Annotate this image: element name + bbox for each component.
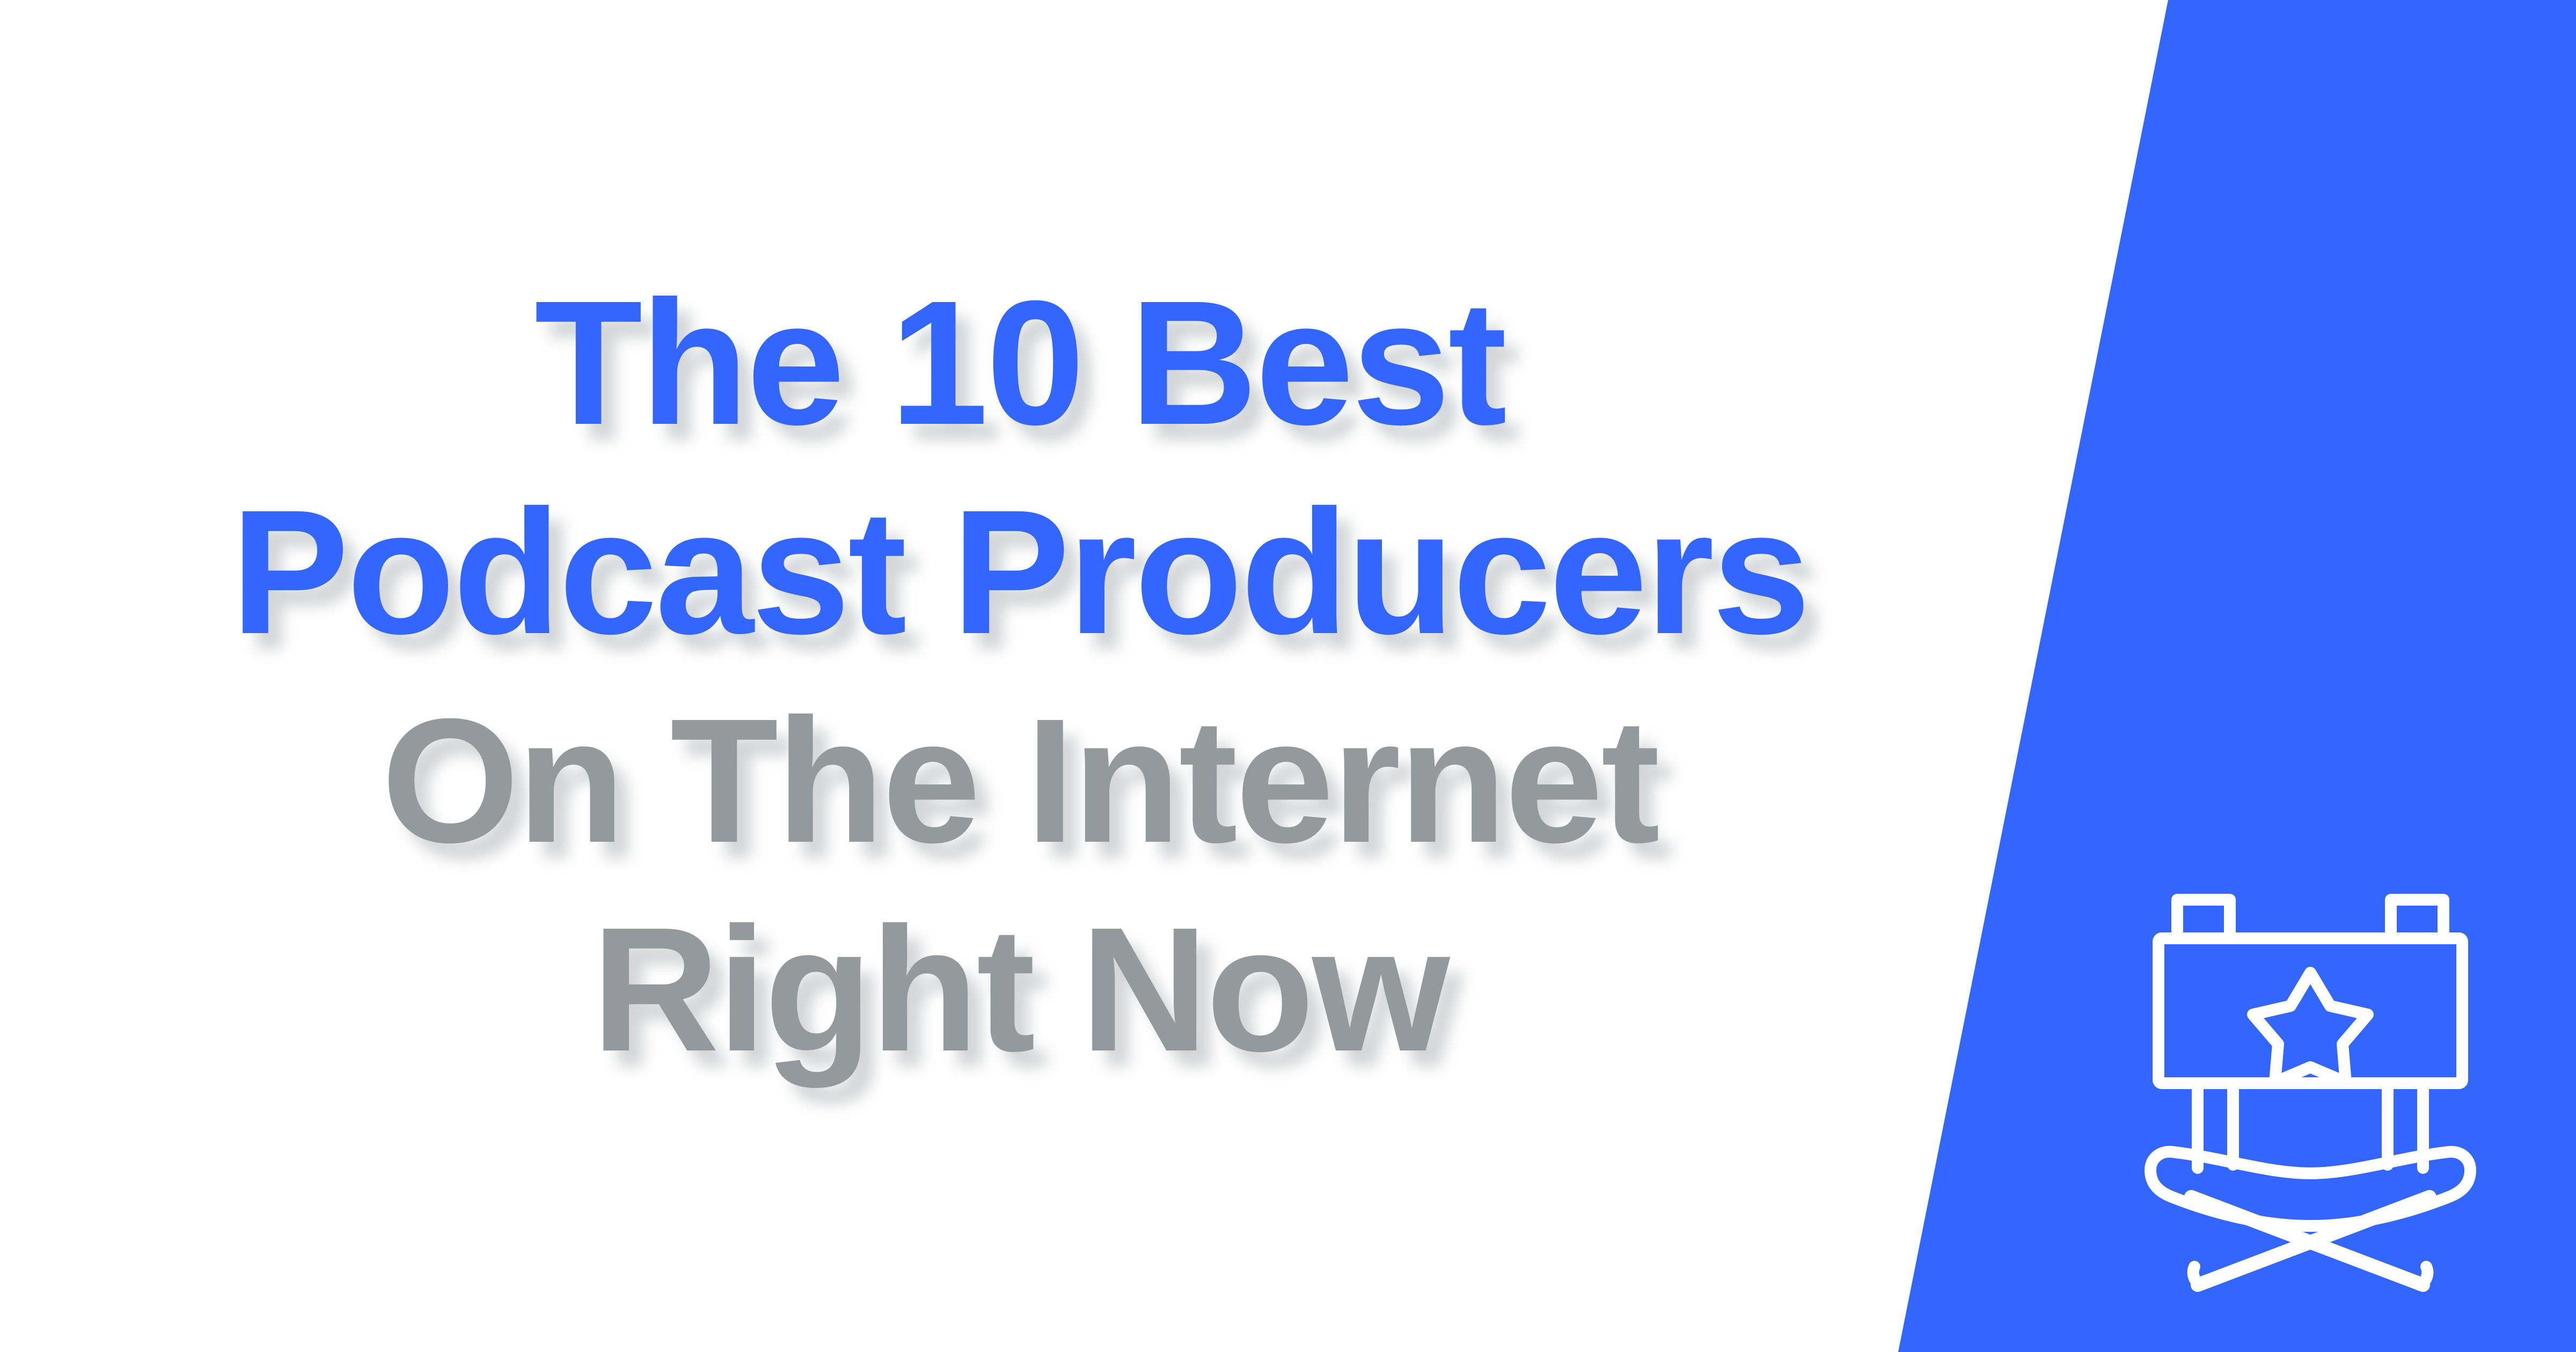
chair-foot-right (2420, 1267, 2427, 1285)
directors-chair-icon (2139, 856, 2482, 1301)
poster-canvas: The 10 Best Podcast Producers On The Int… (0, 0, 2576, 1352)
title-line-1: The 10 Best (0, 258, 2039, 467)
title-line-4: Right Now (0, 885, 2039, 1093)
chair-foot-left (2193, 1267, 2201, 1285)
page-title: The 10 Best Podcast Producers On The Int… (0, 0, 2039, 1352)
title-line-3: On The Internet (0, 676, 2039, 885)
title-line-2: Podcast Producers (0, 467, 2039, 676)
chair-star-icon (2253, 973, 2368, 1082)
